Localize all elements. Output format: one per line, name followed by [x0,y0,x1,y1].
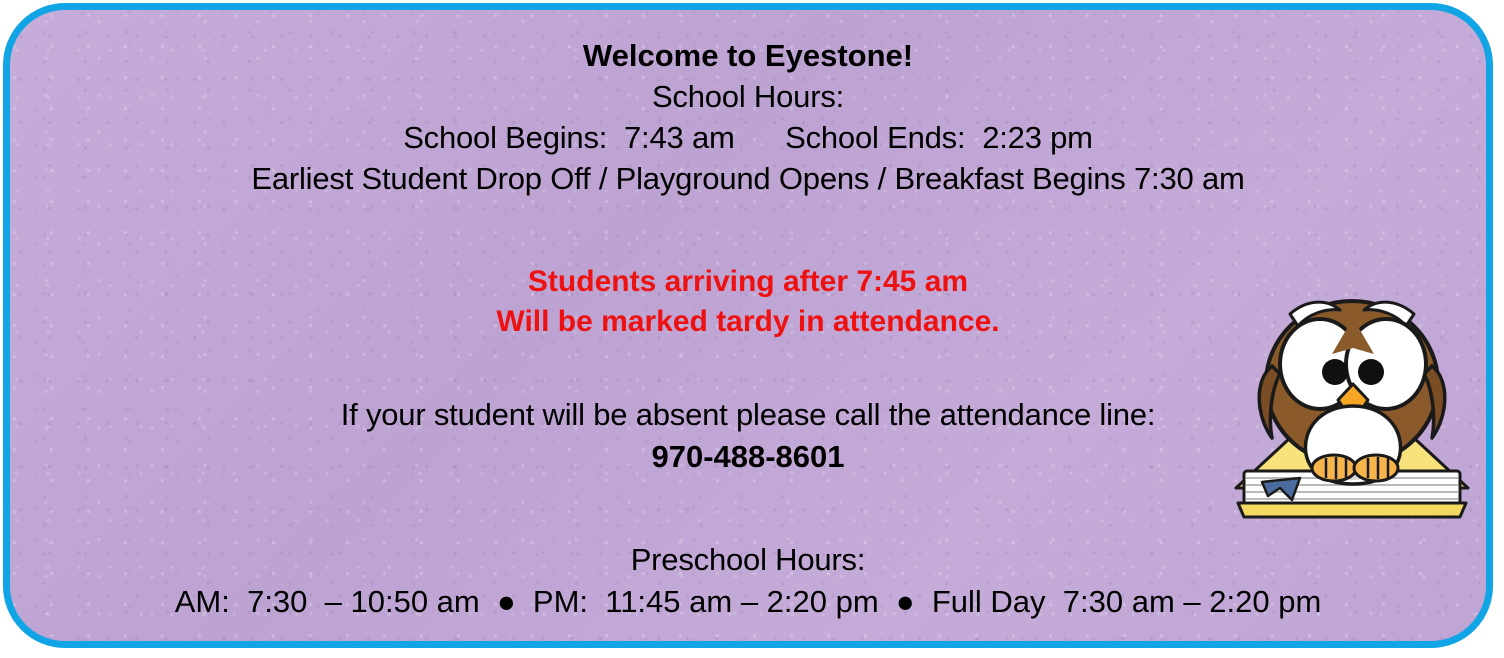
owl-pupil-left [1322,359,1348,385]
earliest-drop-off-line: Earliest Student Drop Off / Playground O… [10,158,1486,199]
preschool-times-line: AM: 7:30 – 10:50 am ● PM: 11:45 am – 2:2… [10,580,1486,624]
page-title: Welcome to Eyestone! [10,10,1486,76]
announcement-card: Welcome to Eyestone! School Hours: Schoo… [3,3,1493,648]
school-hours-label: School Hours: [10,76,1486,117]
preschool-hours-label: Preschool Hours: [10,539,1486,580]
owl-pupil-right [1358,359,1384,385]
owl-on-book-illustration [1228,288,1476,526]
school-begins-ends-line: School Begins: 7:43 am School Ends: 2:23… [10,117,1486,158]
